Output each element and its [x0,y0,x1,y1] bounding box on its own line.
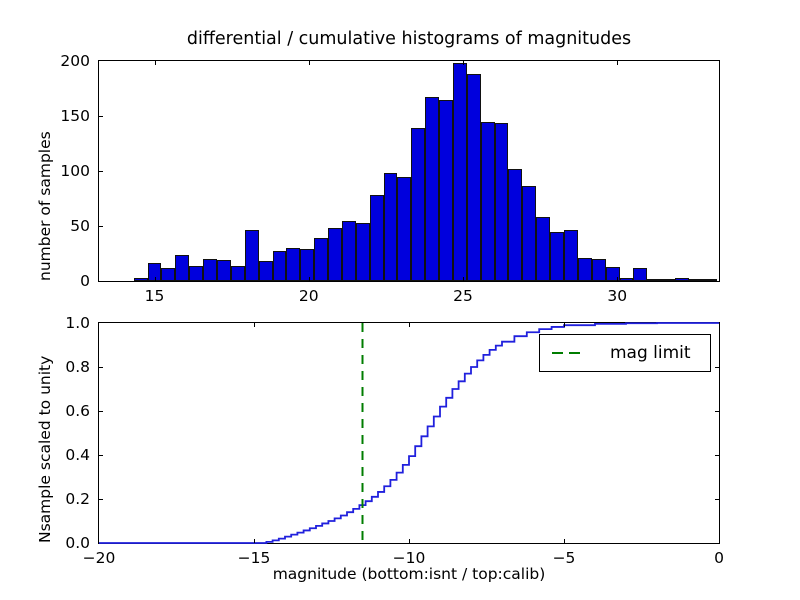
tick-mark [409,539,410,543]
top-panel-x-tick: 30 [607,287,627,305]
histogram-bar [453,63,467,281]
tick-mark [409,323,410,327]
histogram-bar [356,223,370,281]
histogram-bar [550,232,564,282]
histogram-bar [508,169,522,281]
tick-mark [99,116,103,117]
tick-mark [99,171,103,172]
histogram-bar [300,249,314,281]
histogram-bar [134,278,148,281]
histogram-bar [286,248,300,281]
top-panel-x-tick: 25 [453,287,473,305]
differential-histogram-axes [98,60,720,282]
histogram-bar [425,97,439,281]
tick-mark [99,455,103,456]
top-panel-y-axis-label: number of samples [36,131,54,281]
histogram-bar [467,74,481,281]
histogram-bar [273,251,287,281]
bottom-panel-y-tick: 0.2 [40,490,90,508]
tick-mark [463,61,464,65]
top-panel-y-tick: 200 [40,52,90,70]
figure-x-axis-label: magnitude (bottom:isnt / top:calib) [98,565,720,583]
legend-box: mag limit [539,334,711,372]
histogram-bar [439,100,453,282]
bottom-panel-y-tick: 0.4 [40,446,90,464]
histogram-bar [231,266,245,281]
tick-mark [617,277,618,281]
cumulative-fraction-axes: mag limit [98,322,720,544]
histogram-bar [522,186,536,281]
legend-item-label-mag-limit: mag limit [610,343,691,363]
histogram-bar [564,230,578,281]
tick-mark [155,61,156,65]
histogram-bar [370,195,384,281]
top-panel-y-tick: 0 [40,272,90,290]
histogram-bar [328,228,342,281]
histogram-bar [689,279,703,281]
top-panel-y-tick: 100 [40,162,90,180]
histogram-bar [203,259,217,281]
histogram-bar [397,177,411,282]
histogram-bar [592,259,606,281]
top-panel-y-tick: 50 [40,217,90,235]
tick-mark [715,367,719,368]
tick-mark [254,539,255,543]
histogram-bar [620,278,634,281]
histogram-bar [259,261,273,281]
histogram-bar [661,279,675,281]
top-panel-x-tick: 20 [299,287,319,305]
bottom-panel-y-tick: 0.8 [40,358,90,376]
tick-mark [309,61,310,65]
top-panel-x-tick: 15 [145,287,165,305]
histogram-bar [411,128,425,281]
histogram-bars-container [99,61,719,281]
tick-mark [99,226,103,227]
figure-canvas: differential / cumulative histograms of … [0,0,800,600]
histogram-bar [675,278,689,281]
figure-title: differential / cumulative histograms of … [98,29,720,49]
tick-mark [99,411,103,412]
tick-mark [155,277,156,281]
tick-mark [715,411,719,412]
tick-mark [564,323,565,327]
tick-mark [715,499,719,500]
tick-mark [99,499,103,500]
tick-mark [715,455,719,456]
tick-mark [617,61,618,65]
bottom-panel-y-tick: 0.6 [40,402,90,420]
histogram-bar [175,255,189,281]
histogram-bar [314,238,328,281]
tick-mark [564,539,565,543]
histogram-bar [245,230,259,281]
histogram-bar [217,260,231,281]
histogram-bar [161,268,175,281]
histogram-bar [342,221,356,282]
tick-mark [309,277,310,281]
histogram-bar [536,217,550,281]
histogram-bar [633,268,647,281]
histogram-bar [578,258,592,281]
histogram-bar [495,123,509,281]
histogram-bar [189,266,203,281]
bottom-panel-y-tick: 1.0 [40,314,90,332]
tick-mark [254,323,255,327]
top-panel-y-tick: 150 [40,107,90,125]
tick-mark [463,277,464,281]
histogram-bar [703,279,717,281]
histogram-bar [481,122,495,282]
histogram-bar [384,173,398,281]
mag-limit-dashed-line-icon [550,346,592,360]
tick-mark [99,367,103,368]
histogram-bar [647,279,661,281]
